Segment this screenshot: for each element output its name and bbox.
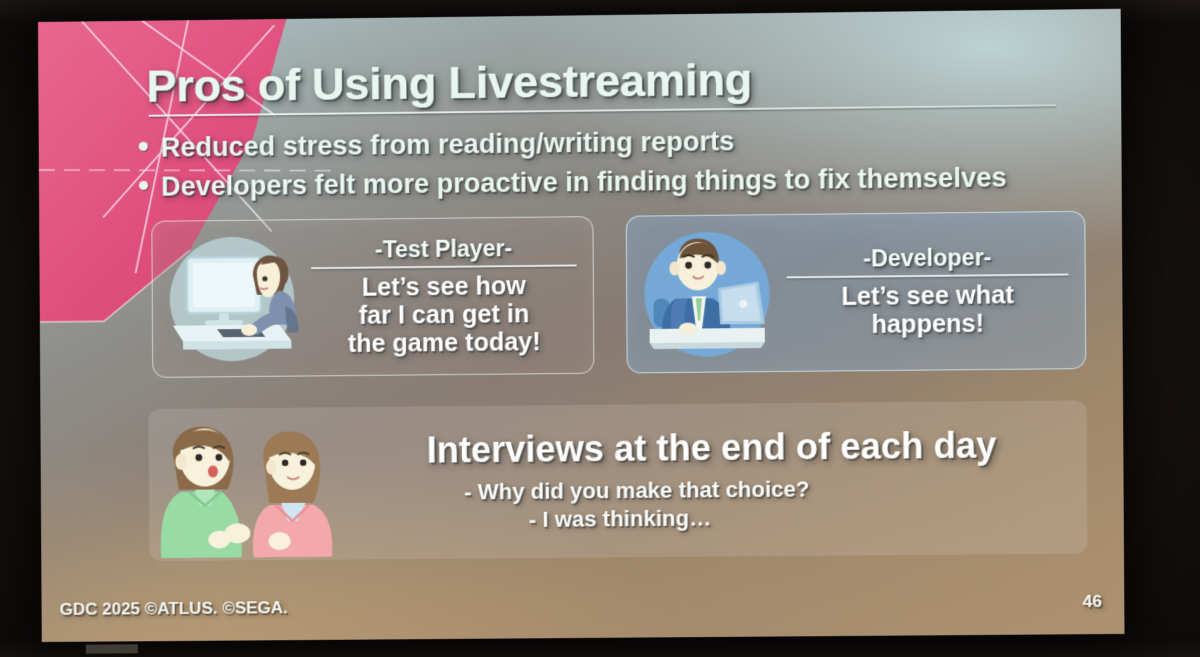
interview-panel-title: Interviews at the end of each day xyxy=(345,424,1079,473)
bullet-list: Reduced stress from reading/writing repo… xyxy=(139,122,1125,211)
slide-footer-copyright: GDC 2025 ©ATLUS. ©SEGA. xyxy=(60,598,288,620)
card-role-label: -Test Player- xyxy=(305,234,583,264)
card-divider xyxy=(311,265,577,269)
quote-line: Let’s see how xyxy=(305,271,583,302)
card-divider xyxy=(787,274,1069,278)
bullet-text: Reduced stress from reading/writing repo… xyxy=(161,126,735,164)
interview-panel-body: Interviews at the end of each day - Why … xyxy=(345,424,1087,537)
list-item: Developers felt more proactive in findin… xyxy=(139,161,1125,203)
page-title: Pros of Using Livestreaming xyxy=(146,53,752,112)
two-people-talking-icon xyxy=(154,408,345,560)
card-quote-text: Let’s see what happens! xyxy=(781,280,1075,339)
person-at-desktop-computer-icon xyxy=(160,228,303,370)
quote-card-body: -Developer- Let’s see what happens! xyxy=(778,239,1085,343)
bullet-dot-icon xyxy=(139,181,148,190)
quote-line: the game today! xyxy=(305,327,583,358)
card-quote-text: Let’s see how far I can get in the game … xyxy=(305,271,583,358)
interview-question: - Why did you make that choice? xyxy=(345,474,1078,506)
interview-panel: Interviews at the end of each day - Why … xyxy=(148,400,1087,561)
quote-line: Let’s see what xyxy=(781,280,1075,311)
quote-line: far I can get in xyxy=(305,299,583,330)
bullet-text: Developers felt more proactive in findin… xyxy=(161,162,1007,202)
quote-card-developer: -Developer- Let’s see what happens! xyxy=(626,211,1087,374)
card-role-label: -Developer- xyxy=(780,243,1074,273)
screen-edge-marker xyxy=(86,644,138,653)
slide-surface: Pros of Using Livestreaming Reduced stre… xyxy=(38,9,1124,642)
slide-page-number: 46 xyxy=(1083,592,1102,612)
interview-answer: - I was thinking… xyxy=(346,502,1079,534)
quote-line: happens! xyxy=(781,308,1075,339)
slide-frame: Pros of Using Livestreaming Reduced stre… xyxy=(38,9,1124,642)
projected-slide-photo: Pros of Using Livestreaming Reduced stre… xyxy=(0,0,1200,657)
quote-card-body: -Test Player- Let’s see how far I can ge… xyxy=(303,230,594,362)
quote-card-test-player: -Test Player- Let’s see how far I can ge… xyxy=(151,216,594,378)
developer-at-laptop-icon xyxy=(635,223,779,365)
bullet-dot-icon xyxy=(139,142,148,151)
